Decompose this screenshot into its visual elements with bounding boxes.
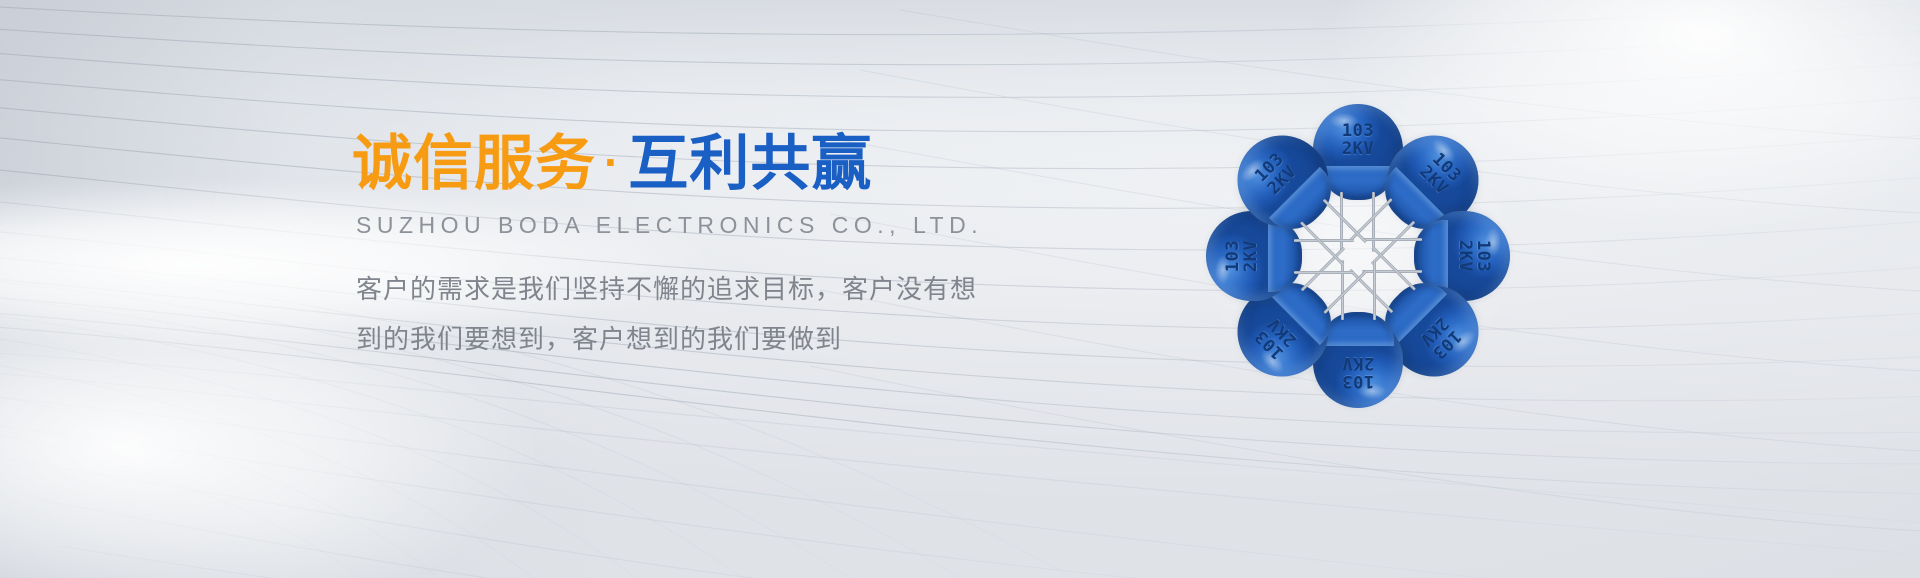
hero-banner: 诚信服务·互利共赢 SUZHOU BODA ELECTRONICS CO., L… (0, 0, 1920, 578)
body-line-1: 客户的需求是我们坚持不懈的追求目标，客户没有想 (356, 265, 1112, 315)
capacitor-label-line1: 103 (1306, 122, 1410, 140)
body-line-2: 到的我们要想到，客户想到的我们要做到 (356, 315, 1112, 365)
banner-headline: 诚信服务·互利共赢 (352, 132, 1112, 196)
capacitor-label-line1: 103 (1306, 372, 1410, 390)
capacitor-label-line1: 103 (1474, 204, 1492, 308)
capacitor-lead (1300, 221, 1345, 266)
headline-part-blue: 互利共赢 (628, 130, 872, 197)
banner-text-block: 诚信服务·互利共赢 SUZHOU BODA ELECTRONICS CO., L… (352, 132, 1112, 364)
banner-subtitle-english: SUZHOU BODA ELECTRONICS CO., LTD. (356, 212, 1112, 239)
capacitor-lead (1323, 199, 1368, 244)
capacitor-label-line1: 103 (1224, 204, 1242, 308)
capacitor-ring: 103 2KV 103 2KV (1148, 46, 1568, 466)
headline-separator-dot: · (596, 136, 628, 188)
headline-part-orange: 诚信服务 (352, 130, 596, 197)
banner-body-copy: 客户的需求是我们坚持不懈的追求目标，客户没有想 到的我们要想到，客户想到的我们要… (356, 265, 1112, 365)
